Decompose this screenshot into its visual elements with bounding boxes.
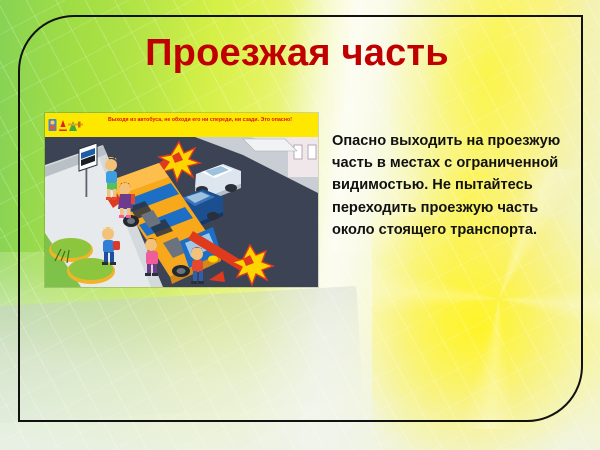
illustration-scene xyxy=(45,137,318,287)
road-safety-logo-icon xyxy=(48,116,84,134)
body-paragraph: Опасно выходить на проезжую часть в мест… xyxy=(332,130,564,241)
building-window xyxy=(308,145,316,159)
illustration-scene-svg xyxy=(45,137,318,287)
page-title: Проезжая часть xyxy=(0,32,600,75)
slide: Проезжая часть Опасно выходить на проезж… xyxy=(0,0,600,450)
illustration-banner-text: Выходя из автобуса, не обходи его ни спе… xyxy=(85,116,315,124)
illustration-banner: Выходя из автобуса, не обходи его ни спе… xyxy=(45,113,318,137)
building-window xyxy=(294,145,302,159)
safety-illustration: Выходя из автобуса, не обходи его ни спе… xyxy=(45,113,318,287)
